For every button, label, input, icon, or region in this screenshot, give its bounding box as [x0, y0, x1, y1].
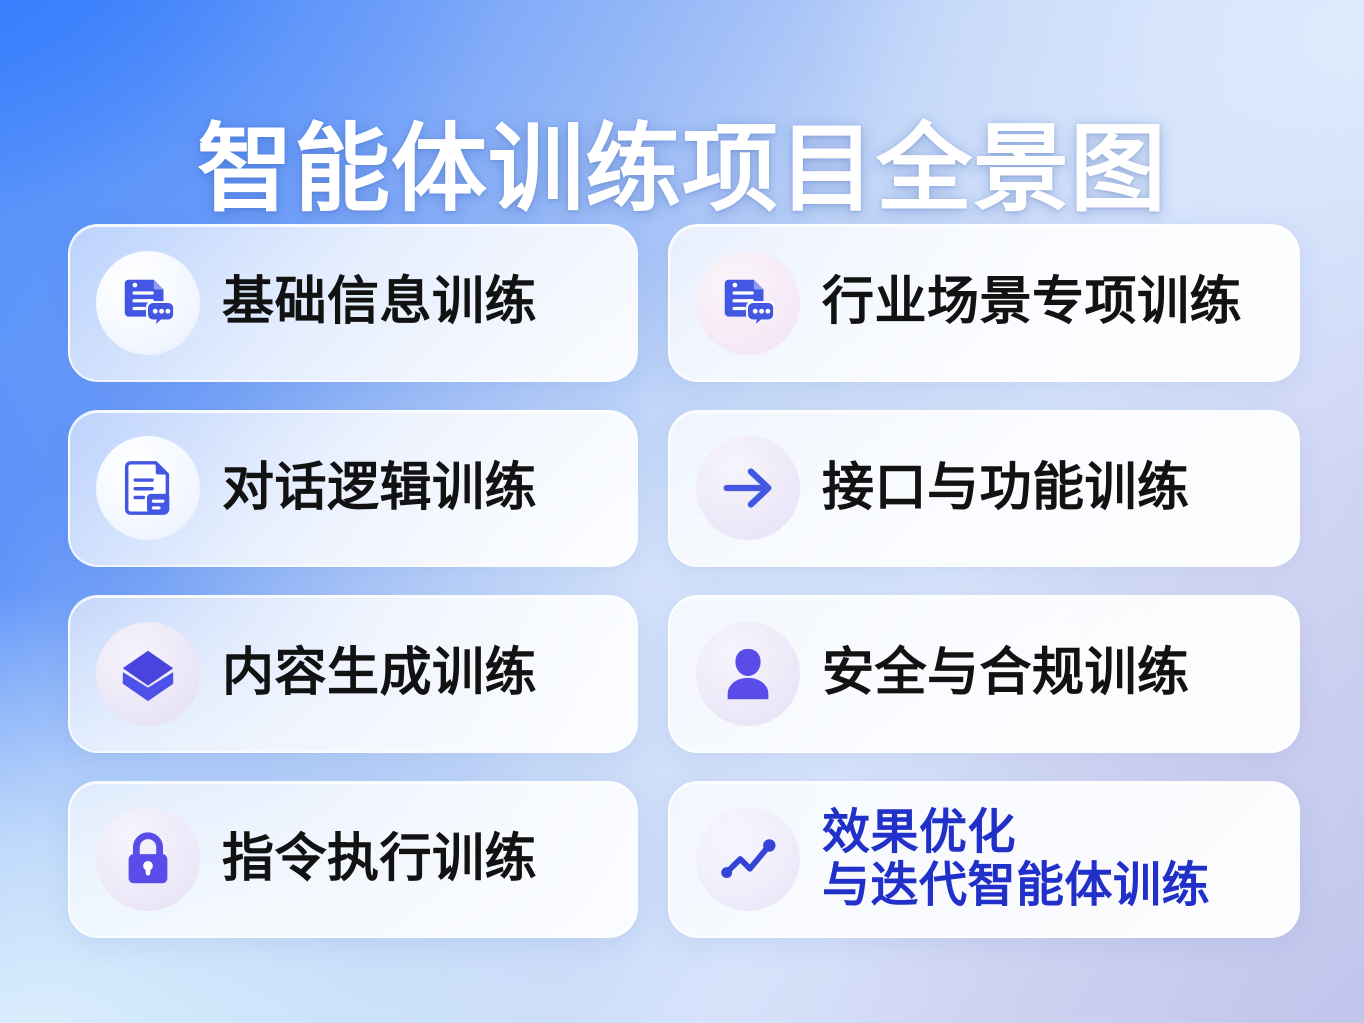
card-interface-function-training[interactable]: 接口与功能训练 [668, 410, 1300, 568]
layers-icon [96, 622, 200, 726]
card-label-line-2: 与迭代智能体训练 [822, 859, 1210, 913]
page-title: 智能体训练项目全景图 [0, 119, 1364, 221]
card-label: 对话逻辑训练 [222, 459, 537, 518]
card-label-line-1: 效果优化 [822, 804, 1016, 860]
card-optimization-iteration-training[interactable]: 效果优化 与迭代智能体训练 [668, 781, 1300, 939]
arrow-right-icon [696, 436, 800, 540]
card-label: 接口与功能训练 [822, 459, 1190, 518]
lock-icon [96, 807, 200, 911]
card-dialogue-logic-training[interactable]: 对话逻辑训练 [68, 410, 638, 568]
training-cards-grid: 基础信息训练 行业场景专项训练 [68, 224, 1300, 938]
card-basic-info-training[interactable]: 基础信息训练 [68, 224, 638, 382]
poster-canvas: 智能体训练项目全景图 基础信息训练 [0, 0, 1364, 1023]
card-safety-compliance-training[interactable]: 安全与合规训练 [668, 595, 1300, 753]
card-label: 基础信息训练 [222, 273, 537, 332]
card-label: 效果优化 与迭代智能体训练 [822, 806, 1210, 914]
document-chat-icon [96, 251, 200, 355]
card-label: 安全与合规训练 [822, 644, 1190, 703]
card-label: 内容生成训练 [222, 644, 537, 703]
card-instruction-execution-training[interactable]: 指令执行训练 [68, 781, 638, 939]
document-chat-icon [696, 251, 800, 355]
card-content-generation-training[interactable]: 内容生成训练 [68, 595, 638, 753]
trending-chart-icon [696, 807, 800, 911]
card-label: 指令执行训练 [222, 830, 537, 889]
user-icon [696, 622, 800, 726]
card-industry-scenario-training[interactable]: 行业场景专项训练 [668, 224, 1300, 382]
card-label: 行业场景专项训练 [822, 273, 1242, 332]
document-lines-icon [96, 436, 200, 540]
